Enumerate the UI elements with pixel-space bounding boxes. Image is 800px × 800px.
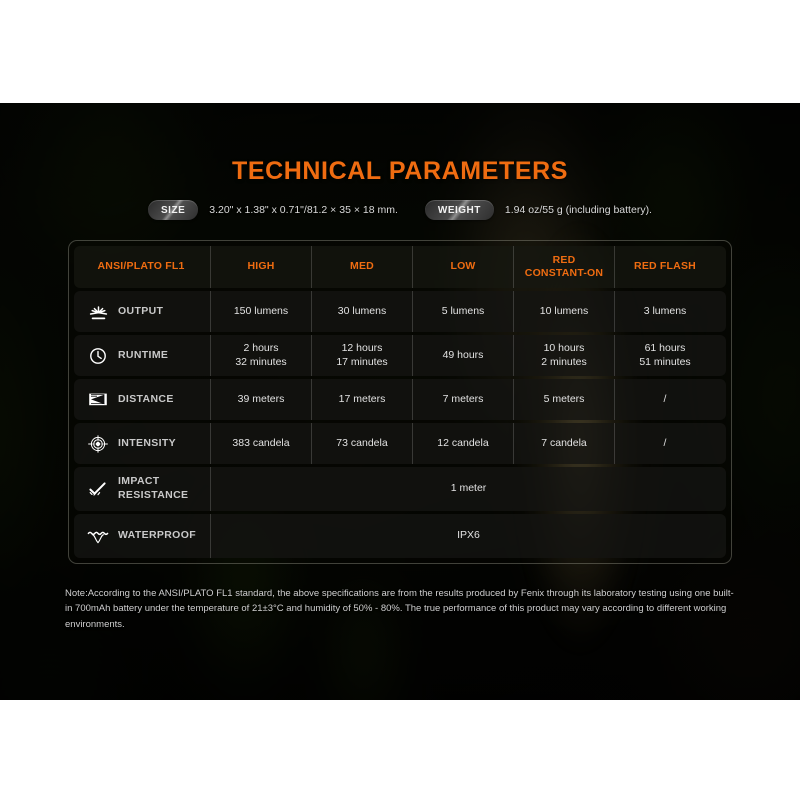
row-label-text: IMPACT RESISTANCE	[118, 475, 188, 502]
column-header-high: HIGH	[210, 246, 311, 288]
row-label-waterproof: WATERPROOF	[74, 514, 210, 558]
column-header-red-constant-on: RED CONSTANT-ON	[513, 246, 614, 288]
cell-output-med: 30 lumens	[311, 291, 412, 332]
row-label-text: DISTANCE	[118, 393, 174, 407]
cell-runtime-high: 2 hours 32 minutes	[210, 335, 311, 376]
badges-row: SIZE 3.20" x 1.38" x 0.71"/81.2 × 35 × 1…	[0, 200, 800, 220]
cell-intensity-high: 383 candela	[210, 423, 311, 464]
cell-distance-red-constant-on: 5 meters	[513, 379, 614, 420]
cell-line1: 61 hours 51 minutes	[639, 342, 690, 368]
footnote-text: Note:According to the ANSI/PLATO FL1 sta…	[65, 586, 737, 632]
clock-icon	[87, 346, 109, 366]
row-label-text: OUTPUT	[118, 305, 163, 319]
size-badge-group: SIZE 3.20" x 1.38" x 0.71"/81.2 × 35 × 1…	[148, 200, 398, 220]
cell-impact-resistance-value: 1 meter	[210, 467, 726, 511]
cell-runtime-med: 12 hours 17 minutes	[311, 335, 412, 376]
cell-output-high: 150 lumens	[210, 291, 311, 332]
cell-output-red-flash: 3 lumens	[614, 291, 715, 332]
column-header-ansi: ANSI/PLATO FL1	[74, 246, 210, 288]
cell-line1: 10 hours 2 minutes	[541, 342, 587, 368]
background-photo: TECHNICAL PARAMETERS SIZE 3.20" x 1.38" …	[0, 103, 800, 700]
size-value: 3.20" x 1.38" x 0.71"/81.2 × 35 × 18 mm.	[209, 204, 398, 216]
cell-output-low: 5 lumens	[412, 291, 513, 332]
table-row: INTENSITY 383 candela 73 candela 12 cand…	[74, 423, 726, 464]
size-badge: SIZE	[148, 200, 198, 220]
weight-value: 1.94 oz/55 g (including battery).	[505, 204, 652, 216]
column-header-red-line1: RED	[553, 254, 576, 266]
table-row: DISTANCE 39 meters 17 meters 7 meters 5 …	[74, 379, 726, 420]
row-label-impact-resistance: IMPACT RESISTANCE	[74, 467, 210, 511]
table-row: IMPACT RESISTANCE 1 meter	[74, 467, 726, 511]
cell-distance-red-flash: /	[614, 379, 715, 420]
column-header-red-line2: CONSTANT-ON	[525, 267, 603, 279]
table-row: RUNTIME 2 hours 32 minutes 12 hours 17 m…	[74, 335, 726, 376]
impact-icon	[87, 479, 109, 499]
cell-output-red-constant-on: 10 lumens	[513, 291, 614, 332]
content-container: TECHNICAL PARAMETERS SIZE 3.20" x 1.38" …	[0, 103, 800, 700]
cell-runtime-low: 49 hours	[412, 335, 513, 376]
cell-runtime-red-constant-on: 10 hours 2 minutes	[513, 335, 614, 376]
cell-intensity-low: 12 candela	[412, 423, 513, 464]
weight-badge: WEIGHT	[425, 200, 494, 220]
specifications-table: ANSI/PLATO FL1 HIGH MED LOW RED CONSTANT…	[68, 240, 732, 564]
row-label-text: INTENSITY	[118, 437, 176, 451]
table-row: WATERPROOF IPX6	[74, 514, 726, 558]
cell-line1: 2 hours 32 minutes	[235, 342, 286, 368]
column-header-low: LOW	[412, 246, 513, 288]
waterdrop-icon	[87, 526, 109, 546]
cell-line1: 12 hours 17 minutes	[336, 342, 387, 368]
row-label-distance: DISTANCE	[74, 379, 210, 420]
column-header-red-flash: RED FLASH	[614, 246, 715, 288]
row-label-runtime: RUNTIME	[74, 335, 210, 376]
row-label-text: WATERPROOF	[118, 529, 196, 543]
cell-runtime-red-flash: 61 hours 51 minutes	[614, 335, 715, 376]
cell-intensity-med: 73 candela	[311, 423, 412, 464]
target-icon	[87, 434, 109, 454]
sunburst-icon	[87, 302, 109, 322]
page-root: TECHNICAL PARAMETERS SIZE 3.20" x 1.38" …	[0, 0, 800, 800]
cell-intensity-red-constant-on: 7 candela	[513, 423, 614, 464]
beam-icon	[87, 390, 109, 410]
row-label-text: RUNTIME	[118, 349, 168, 363]
page-title: TECHNICAL PARAMETERS	[0, 157, 800, 186]
row-label-intensity: INTENSITY	[74, 423, 210, 464]
cell-waterproof-value: IPX6	[210, 514, 726, 558]
cell-distance-med: 17 meters	[311, 379, 412, 420]
table-row: OUTPUT 150 lumens 30 lumens 5 lumens 10 …	[74, 291, 726, 332]
column-header-med: MED	[311, 246, 412, 288]
cell-intensity-red-flash: /	[614, 423, 715, 464]
cell-distance-low: 7 meters	[412, 379, 513, 420]
weight-badge-group: WEIGHT 1.94 oz/55 g (including battery).	[425, 200, 652, 220]
table-header-row: ANSI/PLATO FL1 HIGH MED LOW RED CONSTANT…	[74, 246, 726, 288]
cell-line1: 49 hours	[443, 349, 484, 362]
row-label-output: OUTPUT	[74, 291, 210, 332]
cell-distance-high: 39 meters	[210, 379, 311, 420]
